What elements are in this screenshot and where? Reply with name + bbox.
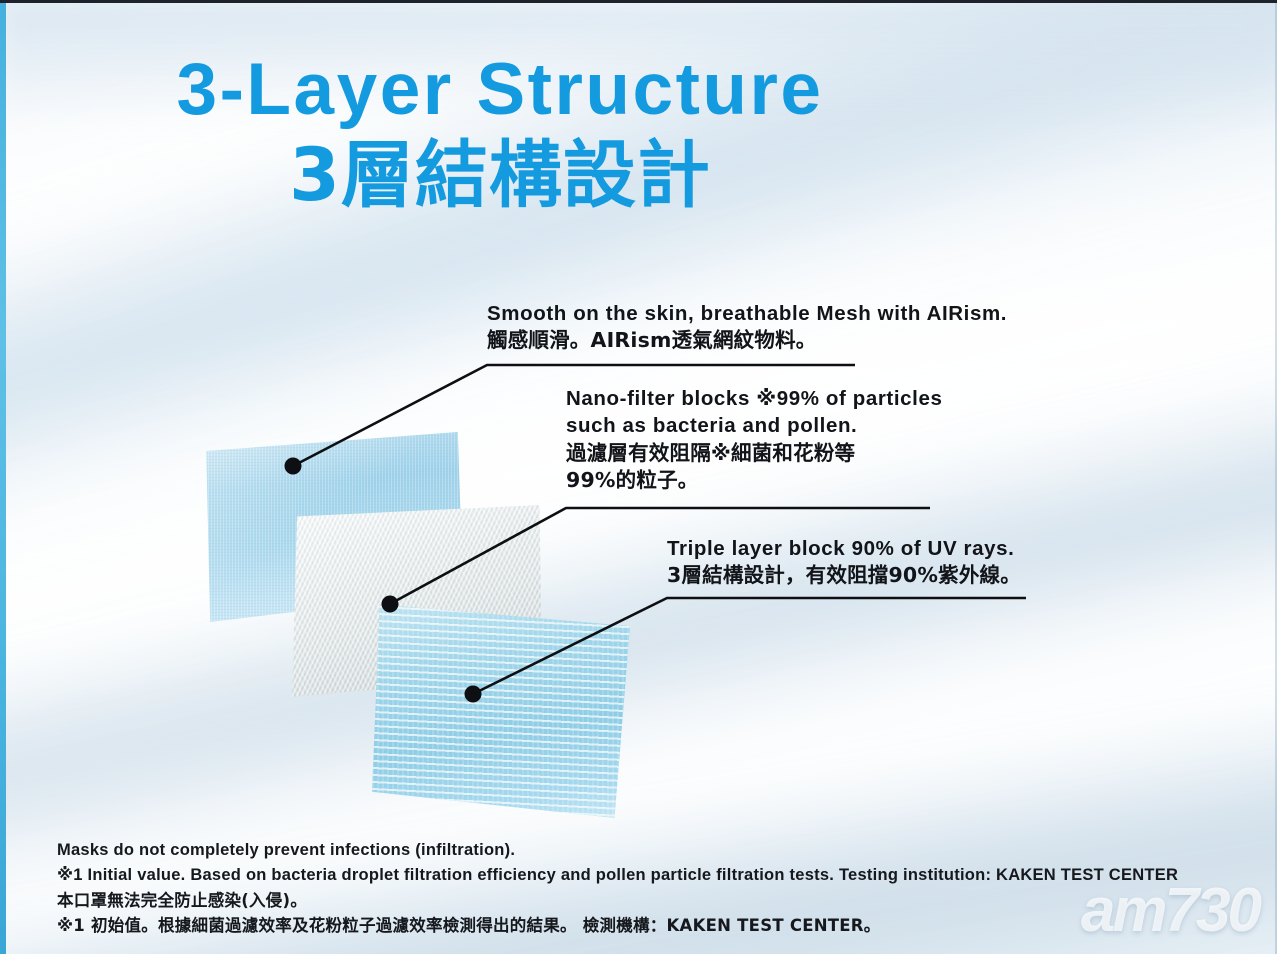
- infographic-canvas: 3-Layer Structure 3層結構設計 Smooth on the s…: [0, 0, 1277, 954]
- left-edge-accent: [0, 0, 6, 954]
- footnote-line-2: ※1 Initial value. Based on bacteria drop…: [57, 863, 1178, 888]
- callout-uv-block: Triple layer block 90% of UV rays. 3層結構設…: [667, 535, 1021, 590]
- callout-nano-filter-line-3: 過濾層有效阻隔※細菌和花粉等: [566, 440, 942, 467]
- footnote-line-1: Masks do not completely prevent infectio…: [57, 838, 1178, 863]
- footnote-block: Masks do not completely prevent infectio…: [57, 838, 1178, 938]
- callout-mesh-line-2: 觸感順滑。AIRism透氣網紋物料。: [487, 327, 1007, 354]
- callout-mesh-line-1: Smooth on the skin, breathable Mesh with…: [487, 300, 1007, 327]
- callout-nano-filter-line-4: 99%的粒子。: [566, 467, 942, 494]
- footnote-line-3: 本口罩無法完全防止感染(入侵)。: [57, 888, 1178, 913]
- callout-mesh: Smooth on the skin, breathable Mesh with…: [487, 300, 1007, 355]
- callout-nano-filter: Nano-filter blocks ※99% of particles suc…: [566, 385, 942, 494]
- top-edge-line: [0, 0, 1277, 3]
- top-shade-overlay: [0, 0, 1277, 120]
- inner-blue-mesh-layer: [372, 600, 630, 818]
- callout-uv-block-line-1: Triple layer block 90% of UV rays.: [667, 535, 1021, 562]
- callout-nano-filter-line-2: such as bacteria and pollen.: [566, 412, 942, 439]
- footnote-line-4: ※1 初始值。根據細菌過濾效率及花粉粒子過濾效率檢測得出的結果。 檢測機構：KA…: [57, 913, 1178, 938]
- callout-nano-filter-line-1: Nano-filter blocks ※99% of particles: [566, 385, 942, 412]
- callout-uv-block-line-2: 3層結構設計，有效阻擋90%紫外線。: [667, 562, 1021, 589]
